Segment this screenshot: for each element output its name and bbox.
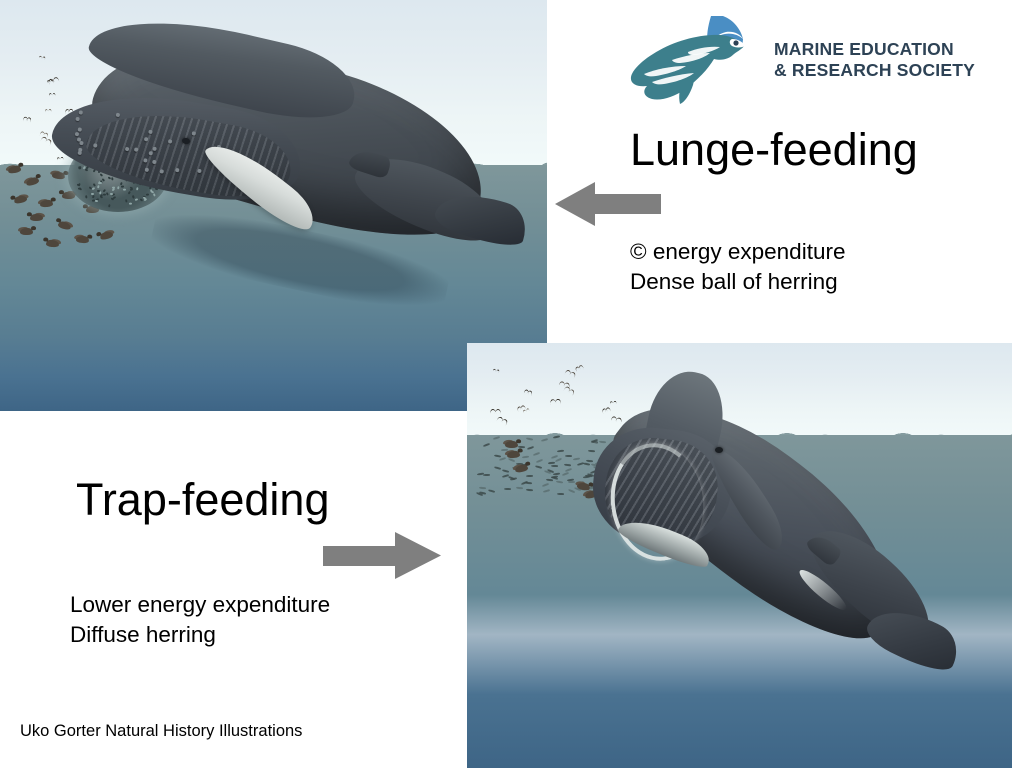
tubercle <box>74 132 79 137</box>
lunge-detail-line-1: © energy expenditure <box>630 237 845 267</box>
humpback-whale-logo-icon <box>628 12 760 108</box>
logo-line-2: & RESEARCH SOCIETY <box>774 60 975 81</box>
trap-feeding-heading: Trap-feeding <box>76 476 329 523</box>
organization-logo: MARINE EDUCATION & RESEARCH SOCIETY <box>628 12 975 108</box>
lunge-feeding-heading: Lunge-feeding <box>630 126 918 173</box>
tubercle <box>134 147 139 152</box>
illustration-credit: Uko Gorter Natural History Illustrations <box>20 722 302 741</box>
lunge-detail-line-2: Dense ball of herring <box>630 267 845 297</box>
lunge-feeding-details: © energy expenditure Dense ball of herri… <box>630 237 845 296</box>
tubercle <box>148 150 153 155</box>
tubercle <box>152 160 157 165</box>
logo-wordmark: MARINE EDUCATION & RESEARCH SOCIETY <box>774 39 975 82</box>
trap-feeding-illustration <box>467 343 1012 768</box>
humpback-whale-lunging <box>0 0 547 411</box>
tubercle <box>197 169 202 174</box>
tubercle <box>78 151 83 156</box>
trap-feeding-arrow-right <box>323 532 441 579</box>
tubercle <box>143 158 148 163</box>
slide-canvas: MARINE EDUCATION & RESEARCH SOCIETY Lung… <box>0 0 1024 768</box>
tubercle <box>75 116 80 121</box>
tubercle <box>124 147 129 152</box>
tubercle <box>93 143 98 148</box>
tubercle <box>192 131 197 136</box>
trap-feeding-details: Lower energy expenditure Diffuse herring <box>70 590 330 649</box>
tubercle <box>152 146 157 151</box>
tubercle <box>175 168 180 173</box>
tubercle <box>79 110 84 115</box>
tubercle <box>79 140 84 145</box>
trap-detail-line-2: Diffuse herring <box>70 620 330 650</box>
logo-line-1: MARINE EDUCATION <box>774 39 975 60</box>
tubercle <box>116 112 121 117</box>
tubercle <box>159 169 164 174</box>
whale-eye <box>715 447 723 453</box>
tubercle <box>168 139 173 144</box>
humpback-whale-trap-feeding <box>467 343 1012 768</box>
lunge-feeding-arrow-left <box>555 182 661 226</box>
lunge-feeding-illustration <box>0 0 547 411</box>
tubercle <box>144 167 149 172</box>
trap-detail-line-1: Lower energy expenditure <box>70 590 330 620</box>
tubercle <box>144 137 149 142</box>
tubercle <box>148 129 153 134</box>
